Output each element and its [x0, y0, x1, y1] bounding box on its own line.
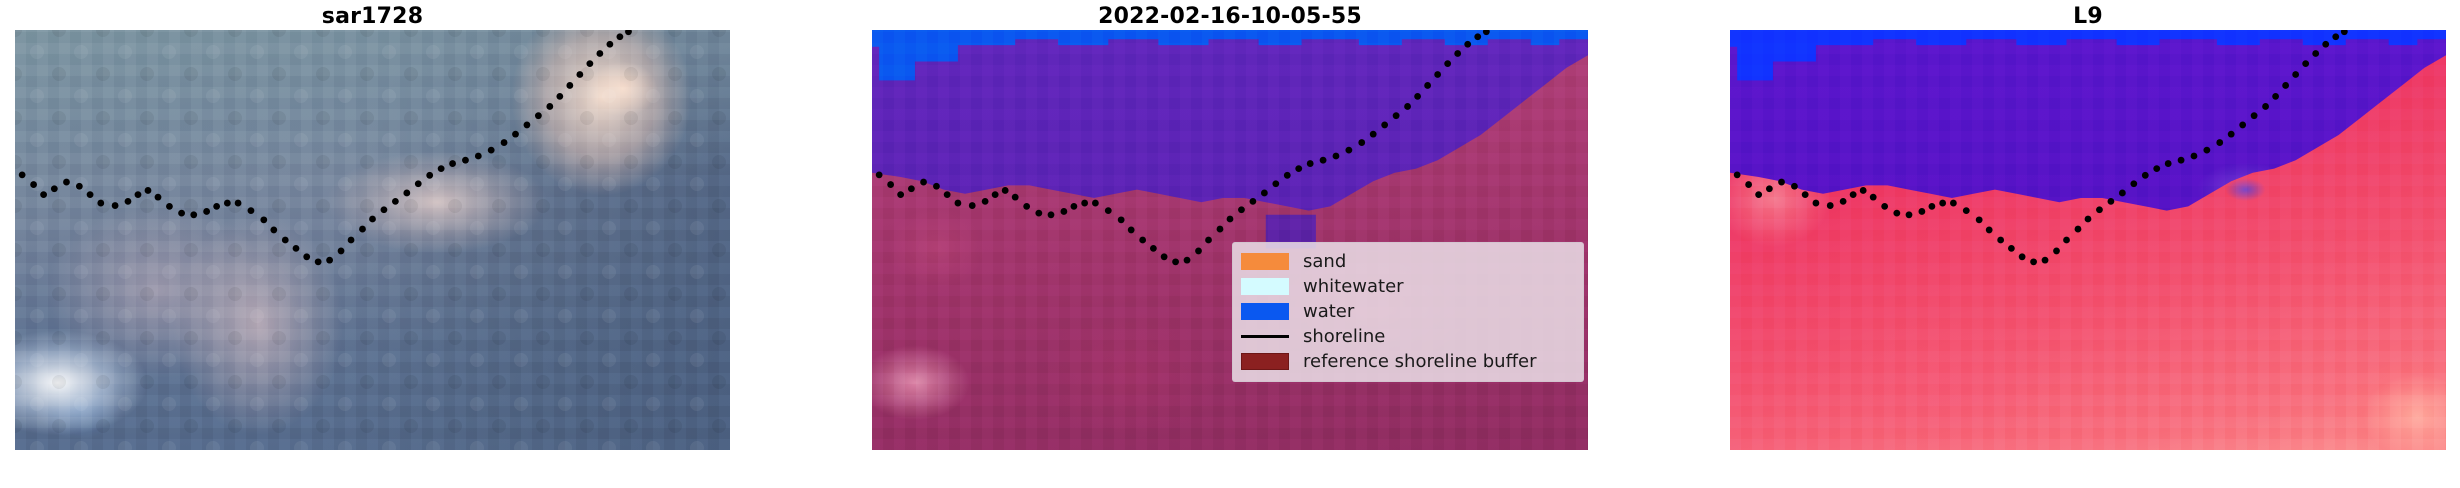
shoreline-dot: [1217, 226, 1224, 233]
shoreline-dot: [1184, 257, 1191, 264]
shoreline-dot: [1381, 122, 1388, 129]
shoreline-dot: [1139, 237, 1146, 244]
shoreline-dot: [1035, 210, 1042, 217]
shoreline-dot: [982, 198, 989, 205]
shoreline-dot: [1939, 200, 1946, 207]
shoreline-dot: [1791, 183, 1798, 190]
shoreline-dot: [887, 181, 894, 188]
panel-image-index-l9: [1730, 30, 2446, 450]
shoreline-dot: [270, 227, 277, 234]
shoreline-dot: [606, 41, 613, 48]
shoreline-overlay-classified: [872, 30, 1588, 450]
shoreline-dot: [1012, 194, 1019, 201]
shoreline-dot: [1060, 208, 1067, 215]
shoreline-dot: [1474, 33, 1481, 40]
shoreline-dot: [2075, 226, 2082, 233]
shoreline-dot: [1963, 207, 1970, 214]
legend-label: sand: [1303, 252, 1346, 272]
shoreline-dot: [2030, 258, 2037, 265]
shoreline-dot: [326, 257, 333, 264]
shoreline-dot: [1850, 191, 1857, 198]
shoreline-dot: [1250, 198, 1257, 205]
shoreline-dot: [1766, 185, 1773, 192]
shoreline-overlay-sar: [15, 30, 730, 450]
shoreline-dot: [2251, 112, 2258, 119]
shoreline-dot: [1906, 211, 1913, 218]
shoreline-dot: [2312, 50, 2319, 57]
shoreline-dot: [1918, 208, 1925, 215]
shoreline-dot: [282, 237, 289, 244]
shoreline-dot: [2178, 157, 2185, 164]
shoreline-dot: [2096, 206, 2103, 213]
shoreline-dot: [19, 172, 26, 179]
shoreline-dot: [190, 211, 197, 218]
shoreline-dot: [1261, 190, 1268, 197]
shoreline-dot: [2262, 103, 2269, 110]
legend-label: whitewater: [1303, 277, 1404, 297]
shoreline-dot: [2322, 41, 2329, 48]
shoreline-dot: [1813, 200, 1820, 207]
shoreline-dot: [1284, 172, 1291, 179]
shoreline-dot: [1150, 245, 1157, 252]
shoreline-dot: [2042, 257, 2049, 264]
shoreline-dot: [315, 258, 322, 265]
shoreline-dot: [415, 180, 422, 187]
shoreline-dot: [2272, 93, 2279, 100]
shoreline-overlay-index: [1730, 30, 2446, 450]
shoreline-dot: [576, 71, 583, 78]
shoreline-dot: [303, 253, 310, 260]
shoreline-dot: [166, 203, 173, 210]
shoreline-dot: [1205, 237, 1212, 244]
shoreline-dot: [2239, 122, 2246, 129]
shoreline-dot: [1929, 203, 1936, 210]
shoreline-dot: [546, 103, 553, 110]
shoreline-dot: [97, 200, 104, 207]
shoreline-dot: [488, 147, 495, 154]
shoreline-dot: [1893, 210, 1900, 217]
legend: sandwhitewaterwatershorelinereference sh…: [1232, 242, 1584, 382]
shoreline-dot: [524, 122, 531, 129]
shoreline-dot: [1870, 194, 1877, 201]
shoreline-dot: [1227, 216, 1234, 223]
shoreline-dot: [1128, 227, 1135, 234]
panel-classified: 2022-02-16-10-05-55 sandwhitewaterwaters…: [872, 0, 1588, 480]
shoreline-dot: [556, 93, 563, 100]
shoreline-dot: [224, 200, 231, 207]
shoreline-dot: [1092, 200, 1099, 207]
shoreline-dot: [145, 187, 152, 194]
shoreline-dot: [1161, 253, 1168, 260]
shoreline-dot: [213, 203, 220, 210]
panel-index-l9: L9: [1730, 0, 2446, 480]
shoreline-dot: [2203, 147, 2210, 154]
panel-image-sar-rgb: [15, 30, 730, 450]
shoreline-dot: [63, 179, 70, 186]
shoreline-dot: [512, 131, 519, 138]
legend-label: reference shoreline buffer: [1303, 352, 1536, 372]
shoreline-dot: [338, 248, 345, 255]
shoreline-dot: [475, 153, 482, 160]
shoreline-dot: [2292, 71, 2299, 78]
shoreline-dot: [1976, 216, 1983, 223]
shoreline-dot: [248, 207, 255, 214]
shoreline-dot: [596, 50, 603, 57]
shoreline-dot: [969, 202, 976, 209]
shoreline-dot: [2341, 30, 2348, 35]
shoreline-dot: [2130, 180, 2137, 187]
shoreline-dot: [348, 237, 355, 244]
shoreline-dot: [908, 185, 915, 192]
shoreline-dot: [1345, 147, 1352, 154]
shoreline-dot: [1370, 131, 1377, 138]
shoreline-dot: [449, 160, 456, 167]
shoreline-dot: [586, 60, 593, 67]
panel-title-sar-rgb: sar1728: [15, 4, 730, 30]
shoreline-dot: [2053, 248, 2060, 255]
shoreline-dot: [438, 165, 445, 172]
shoreline-dot: [155, 194, 162, 201]
shoreline-dot: [2153, 165, 2160, 172]
shoreline-dot: [933, 183, 940, 190]
shoreline-dot: [76, 183, 83, 190]
shoreline-dot: [1444, 60, 1451, 67]
shoreline-dot: [992, 191, 999, 198]
shoreline-dot: [1424, 82, 1431, 89]
legend-item-sand: sand: [1241, 249, 1575, 274]
shoreline-dot: [51, 185, 58, 192]
shoreline-dot: [125, 198, 132, 205]
shoreline-dot: [1950, 200, 1957, 207]
shoreline-dot: [369, 216, 376, 223]
shoreline-dot: [1118, 216, 1125, 223]
panel-sar-rgb: sar1728: [15, 0, 730, 480]
shoreline-dot: [616, 33, 623, 40]
shoreline-dot: [403, 190, 410, 197]
shoreline-dot: [2142, 172, 2149, 179]
shoreline-dot: [2108, 198, 2115, 205]
legend-item-water: water: [1241, 299, 1575, 324]
shoreline-dot: [1358, 139, 1365, 146]
shoreline-dot: [566, 82, 573, 89]
shoreline-dot: [1734, 172, 1741, 179]
legend-color-swatch: [1241, 353, 1289, 370]
shoreline-dot: [1745, 181, 1752, 188]
shoreline-dot: [1071, 203, 1078, 210]
shoreline-dot: [1023, 203, 1030, 210]
shoreline-dot: [2216, 139, 2223, 146]
shoreline-dot: [2332, 33, 2339, 40]
shoreline-dot: [625, 30, 632, 35]
shoreline-dot: [1307, 160, 1314, 167]
shoreline-dot: [1434, 71, 1441, 78]
shoreline-dot: [112, 202, 119, 209]
shoreline-dot: [876, 172, 883, 179]
shoreline-dot: [135, 191, 142, 198]
shoreline-dot: [2228, 131, 2235, 138]
shoreline-dot: [260, 216, 267, 223]
legend-color-swatch: [1241, 253, 1289, 270]
shoreline-line-icon: [1241, 335, 1289, 338]
shoreline-dot: [955, 200, 962, 207]
shoreline-dot: [944, 191, 951, 198]
shoreline-dot: [535, 112, 542, 119]
legend-color-swatch: [1241, 303, 1289, 320]
shoreline-dot: [87, 191, 94, 198]
shoreline-dot: [1393, 112, 1400, 119]
shoreline-dot: [1414, 93, 1421, 100]
legend-line-swatch: [1241, 328, 1289, 345]
shoreline-dot: [2119, 190, 2126, 197]
figure-canvas: sar1728 2022-02-16-10-05-55: [0, 0, 2460, 488]
shoreline-dot: [2063, 237, 2070, 244]
shoreline-dot: [2282, 82, 2289, 89]
shoreline-dot: [1333, 153, 1340, 160]
shoreline-dot: [235, 200, 242, 207]
shoreline-dot: [1827, 202, 1834, 209]
shoreline-dot: [462, 157, 469, 164]
shoreline-dot: [1840, 198, 1847, 205]
shoreline-dot: [1172, 258, 1179, 265]
legend-item-reference-shoreline-buffer: reference shoreline buffer: [1241, 349, 1575, 374]
shoreline-dot: [2008, 245, 2015, 252]
shoreline-dot: [897, 191, 904, 198]
legend-label: water: [1303, 302, 1354, 322]
shoreline-dot: [920, 179, 927, 186]
shoreline-dot: [1986, 227, 1993, 234]
shoreline-dot: [1105, 207, 1112, 214]
shoreline-dot: [1755, 191, 1762, 198]
legend-label: shoreline: [1303, 327, 1385, 347]
shoreline-dot: [1295, 165, 1302, 172]
panel-title-index-l9: L9: [1730, 4, 2446, 30]
shoreline-dot: [426, 172, 433, 179]
shoreline-dot: [1272, 180, 1279, 187]
shoreline-dot: [1997, 237, 2004, 244]
legend-item-shoreline: shoreline: [1241, 324, 1575, 349]
shoreline-dot: [1860, 187, 1867, 194]
shoreline-dot: [1081, 200, 1088, 207]
shoreline-dot: [2191, 153, 2198, 160]
shoreline-dot: [1483, 30, 1490, 35]
shoreline-dot: [381, 206, 388, 213]
shoreline-dot: [1404, 103, 1411, 110]
shoreline-dot: [1002, 187, 1009, 194]
shoreline-dot: [1320, 157, 1327, 164]
shoreline-dot: [392, 198, 399, 205]
shoreline-dot: [359, 226, 366, 233]
shoreline-dot: [1464, 41, 1471, 48]
shoreline-dot: [40, 191, 47, 198]
shoreline-dot: [1048, 211, 1055, 218]
shoreline-dot: [1454, 50, 1461, 57]
shoreline-dot: [2302, 60, 2309, 67]
shoreline-dot: [293, 245, 300, 252]
shoreline-dot: [1802, 191, 1809, 198]
shoreline-dot: [1778, 179, 1785, 186]
shoreline-dot: [2165, 160, 2172, 167]
shoreline-dot: [501, 139, 508, 146]
shoreline-dot: [2019, 253, 2026, 260]
shoreline-dot: [203, 208, 210, 215]
shoreline-dot: [1238, 206, 1245, 213]
legend-color-swatch: [1241, 278, 1289, 295]
panel-title-classified: 2022-02-16-10-05-55: [872, 4, 1588, 30]
shoreline-dot: [2085, 216, 2092, 223]
shoreline-dot: [1195, 248, 1202, 255]
legend-item-whitewater: whitewater: [1241, 274, 1575, 299]
shoreline-dot: [178, 210, 185, 217]
panel-image-classified: [872, 30, 1588, 450]
shoreline-dot: [1881, 203, 1888, 210]
shoreline-dot: [30, 181, 37, 188]
